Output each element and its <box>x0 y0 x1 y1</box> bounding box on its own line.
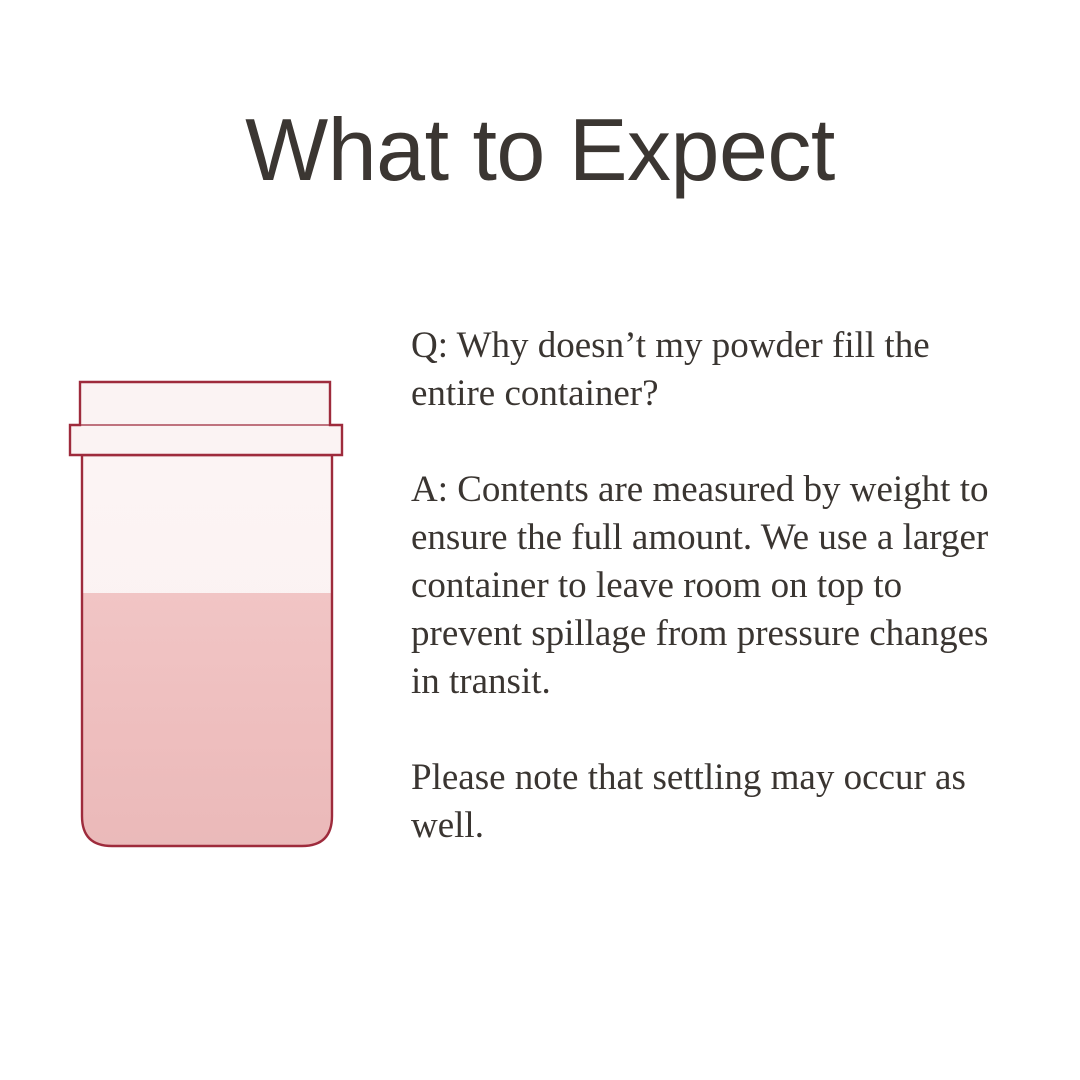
paragraph-spacer <box>411 418 1021 466</box>
powder-fill-group <box>82 593 332 853</box>
faq-note: Please note that settling may occur as w… <box>411 754 1021 850</box>
container-lid-outline <box>70 382 342 455</box>
faq-answer: A: Contents are measured by weight to en… <box>411 466 1021 706</box>
page-canvas: What to Expect <box>0 0 1080 1080</box>
faq-text-block: Q: Why doesn’t my powder fill the entire… <box>411 322 1021 850</box>
container-lid-group <box>70 382 342 455</box>
page-title: What to Expect <box>0 104 1080 196</box>
paragraph-spacer <box>411 706 1021 754</box>
container-svg <box>58 370 358 870</box>
powder-container-illustration <box>58 370 358 870</box>
faq-question: Q: Why doesn’t my powder fill the entire… <box>411 322 1021 418</box>
container-body-group <box>82 455 332 853</box>
powder-fill-level <box>82 593 332 853</box>
